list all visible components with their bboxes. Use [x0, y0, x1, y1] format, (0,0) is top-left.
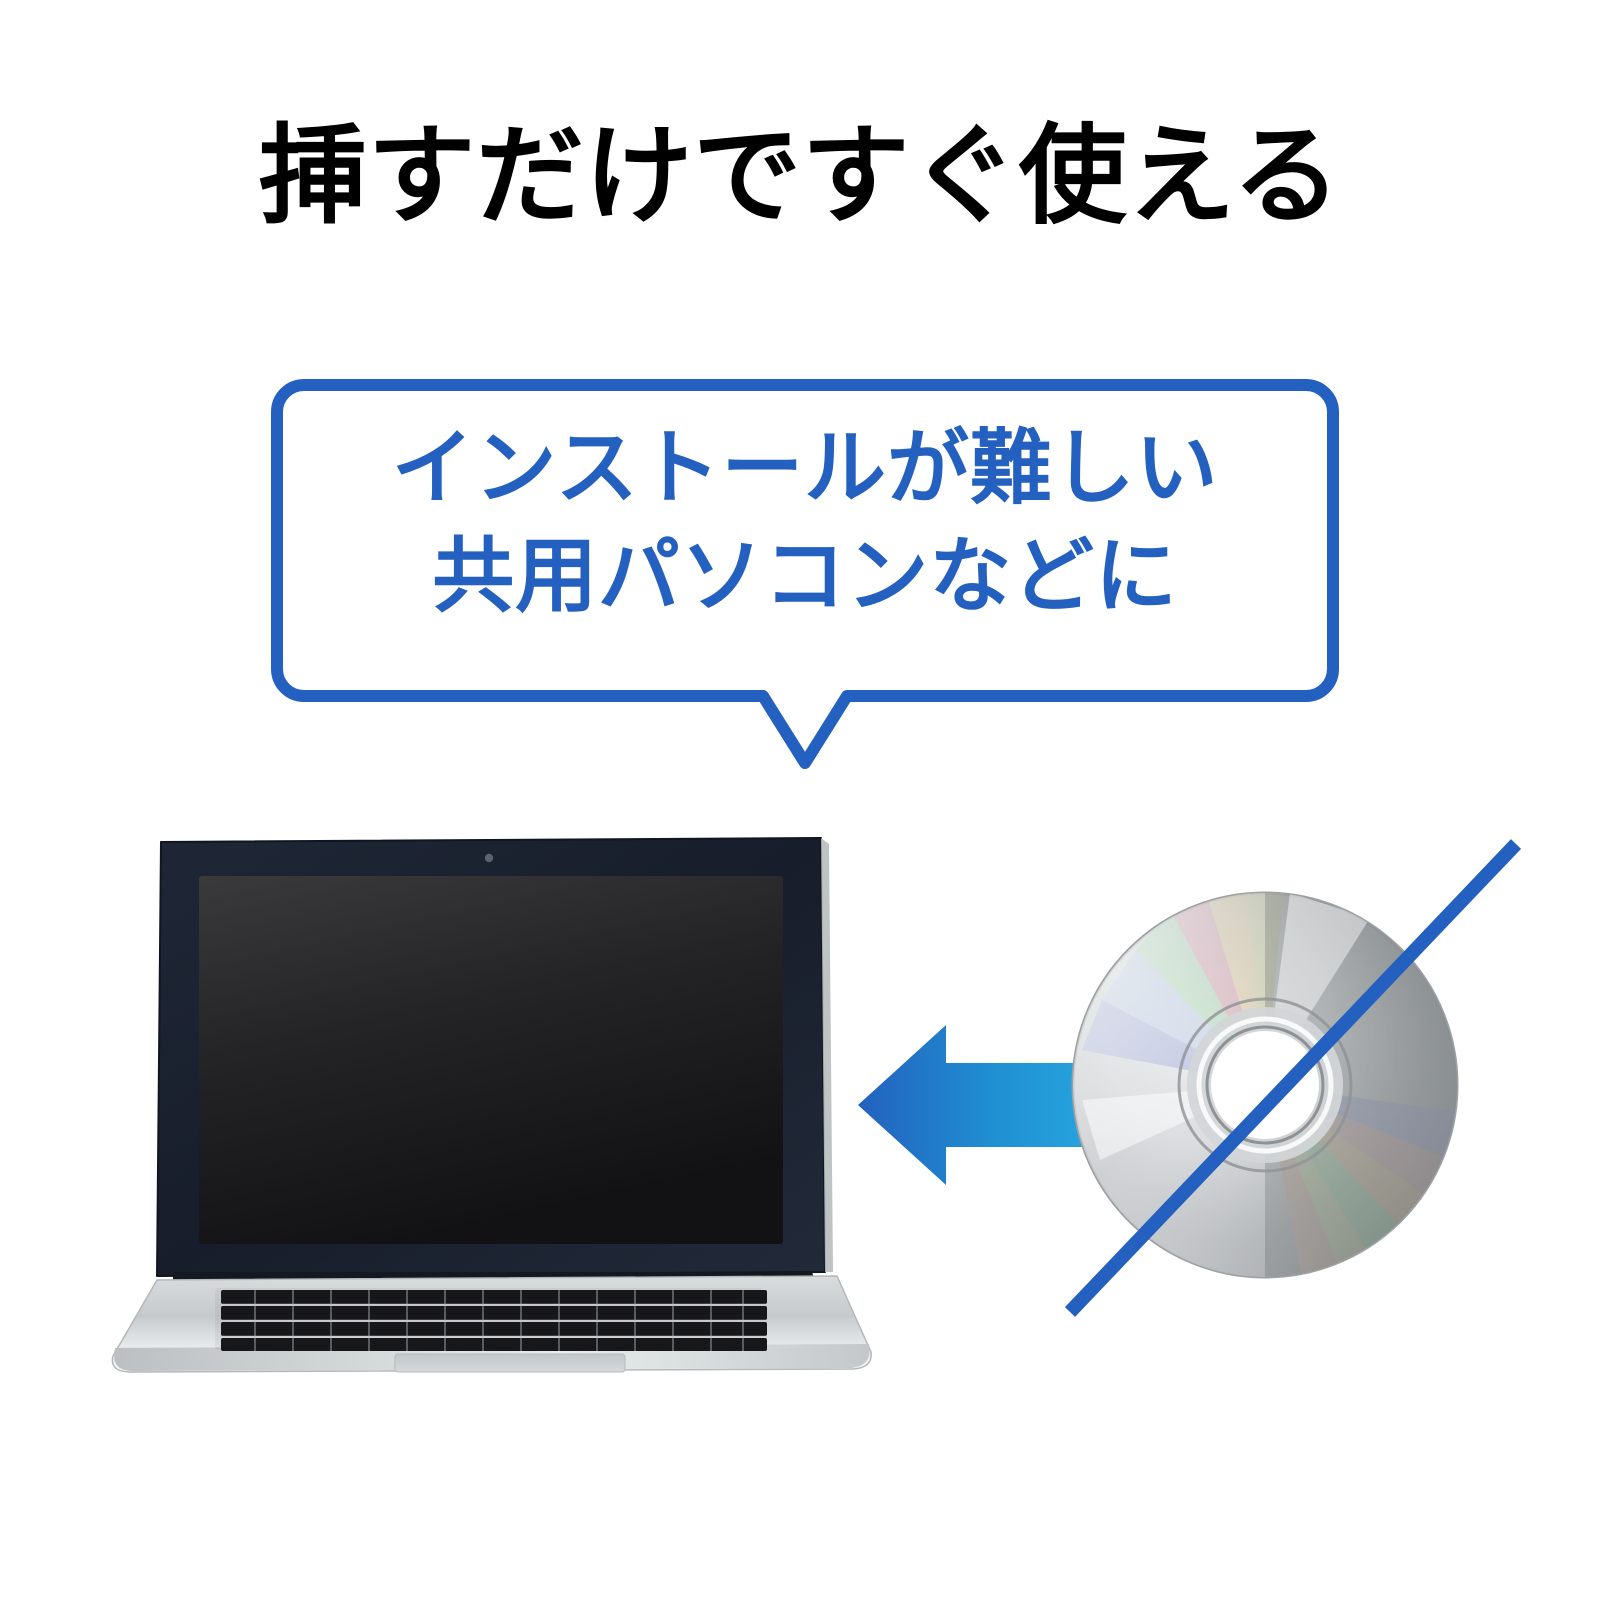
webcam-icon: [485, 854, 493, 862]
callout-line-2: 共用パソコンなどに: [259, 523, 1351, 631]
callout-bubble-text: インストールが難しい 共用パソコンなどに: [259, 415, 1351, 631]
disc-body: [1073, 890, 1460, 1278]
laptop-base: [112, 1276, 871, 1372]
laptop-screen: [199, 876, 783, 1244]
page-headline: 挿すだけですぐ使える: [0, 112, 1600, 239]
optical-disc-illustration: [1040, 800, 1540, 1360]
callout-bubble: インストールが難しい 共用パソコンなどに: [259, 367, 1351, 772]
infographic-canvas: 挿すだけですぐ使える インストールが難しい 共用パソコンなどに: [0, 0, 1600, 1600]
laptop-illustration: [95, 820, 895, 1390]
callout-line-1: インストールが難しい: [259, 415, 1351, 523]
laptop-lid: [157, 838, 833, 1276]
disc-hub-hole: [1211, 1031, 1319, 1139]
laptop-trackpad: [395, 1354, 625, 1372]
